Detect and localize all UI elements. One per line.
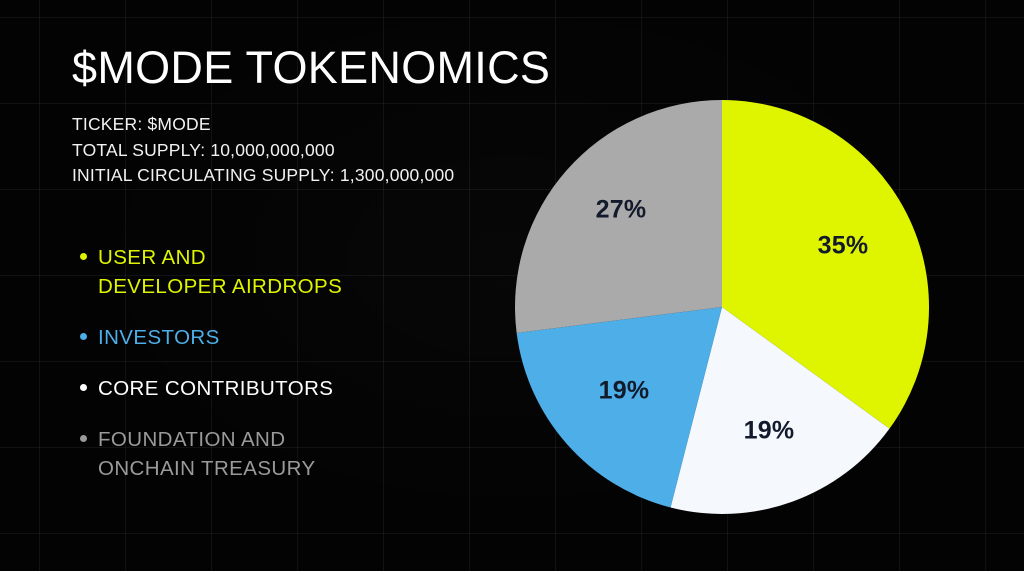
pie-slice-percentage-label: 27% xyxy=(596,196,647,224)
pie-slice-percentage-label: 19% xyxy=(599,377,650,405)
pie-slice-percentage-label: 35% xyxy=(818,232,869,260)
pie-slice-percentage-label: 19% xyxy=(744,417,795,445)
spec-initial-circulating-supply: INITIAL CIRCULATING SUPPLY: 1,300,000,00… xyxy=(72,163,454,189)
legend-bullet-icon xyxy=(80,435,87,442)
page-title: $MODE TOKENOMICS xyxy=(72,41,550,95)
pie-slice-group xyxy=(515,100,929,514)
chart-legend: USER AND DEVELOPER AIRDROPS INVESTORS CO… xyxy=(80,243,460,505)
pie-svg: 35%19%19%27% xyxy=(515,100,929,514)
legend-item-core-contributors: CORE CONTRIBUTORS xyxy=(80,374,460,403)
legend-item-investors: INVESTORS xyxy=(80,323,460,352)
legend-item-foundation-and-onchain-treasury: FOUNDATION AND ONCHAIN TREASURY xyxy=(80,425,460,483)
legend-item-label: USER AND DEVELOPER AIRDROPS xyxy=(98,243,342,301)
legend-item-label: CORE CONTRIBUTORS xyxy=(98,374,333,403)
spec-total-supply: TOTAL SUPPLY: 10,000,000,000 xyxy=(72,138,454,164)
tokenomics-slide: $MODE TOKENOMICS TICKER: $MODE TOTAL SUP… xyxy=(0,0,1024,571)
legend-bullet-icon xyxy=(80,253,87,260)
legend-bullet-icon xyxy=(80,333,87,340)
legend-item-label: FOUNDATION AND ONCHAIN TREASURY xyxy=(98,425,316,483)
token-spec-list: TICKER: $MODE TOTAL SUPPLY: 10,000,000,0… xyxy=(72,112,454,189)
legend-item-label: INVESTORS xyxy=(98,323,220,352)
legend-bullet-icon xyxy=(80,384,87,391)
tokenomics-pie-chart: 35%19%19%27% xyxy=(515,100,929,514)
spec-ticker: TICKER: $MODE xyxy=(72,112,454,138)
legend-item-user-and-developer-airdrops: USER AND DEVELOPER AIRDROPS xyxy=(80,243,460,301)
